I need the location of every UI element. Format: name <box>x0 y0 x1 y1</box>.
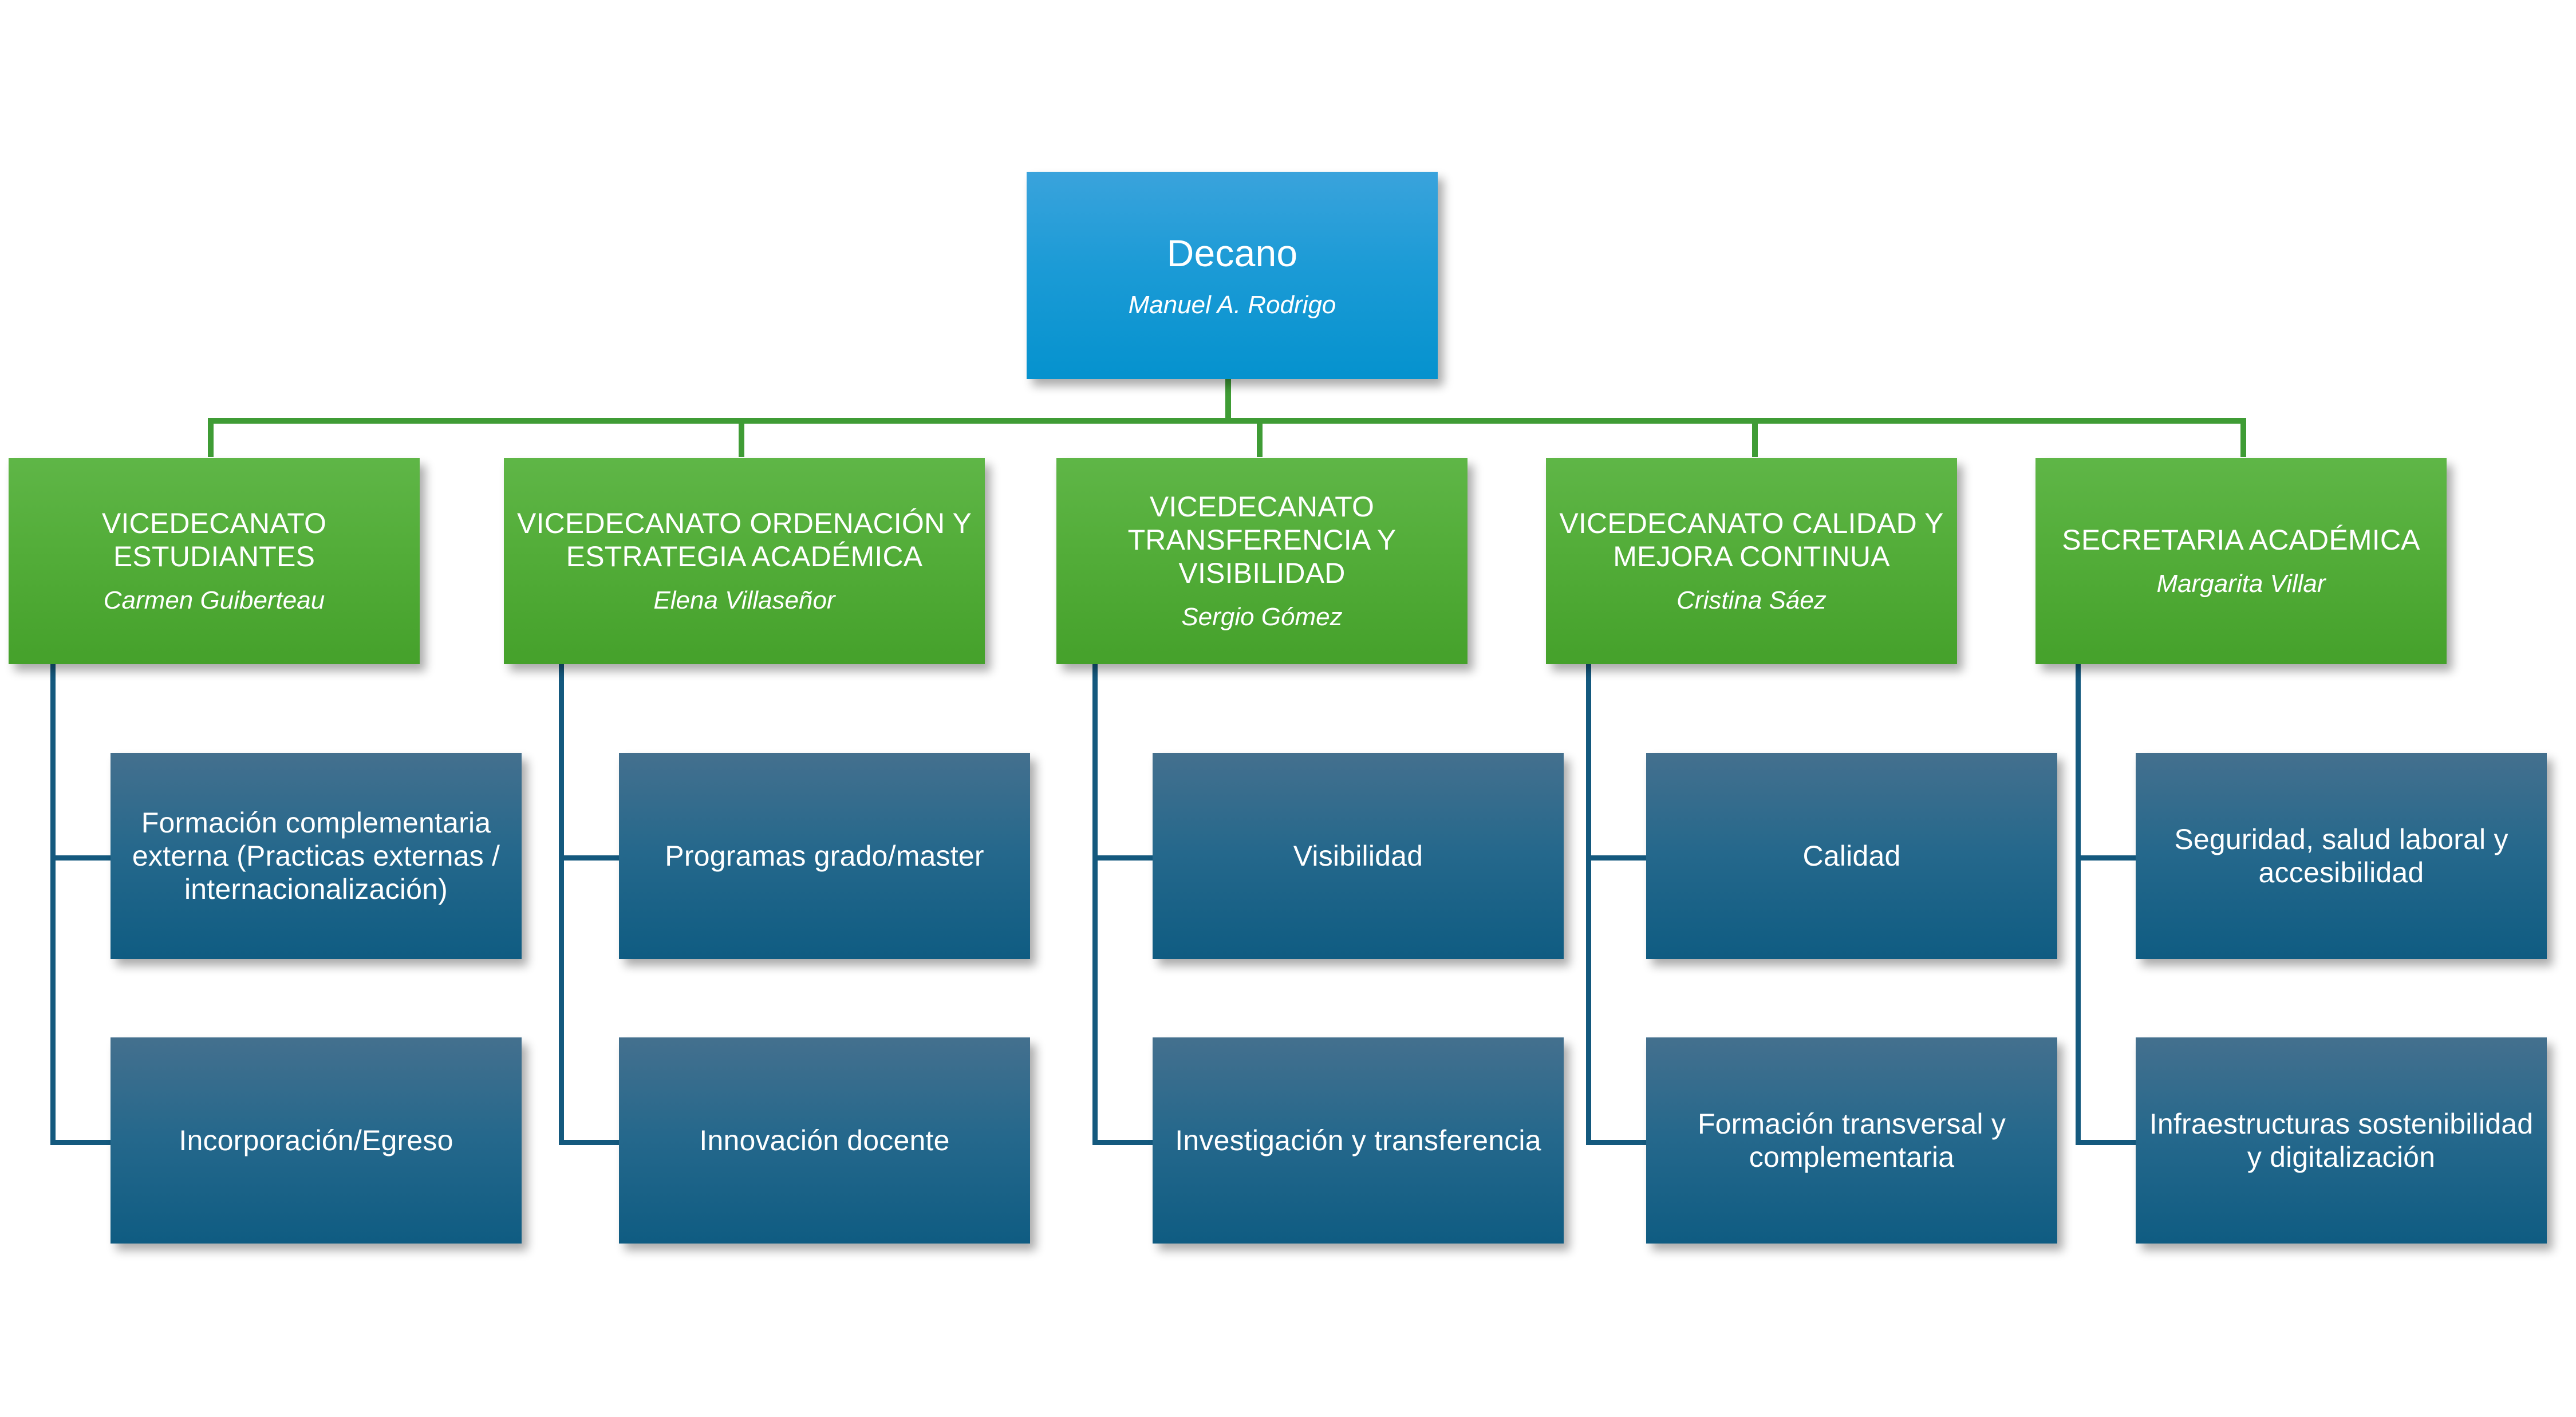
connector-root-bus <box>208 418 2246 424</box>
node-person: Manuel A. Rodrigo <box>1129 290 1336 319</box>
node-title: SECRETARIA ACADÉMICA <box>2062 523 2420 556</box>
connector-branch-drop-3 <box>1257 418 1263 457</box>
node-seguridad-salud-laboral[interactable]: Seguridad, salud laboral y accesibilidad <box>2136 753 2547 959</box>
node-title: Decano <box>1167 231 1298 275</box>
connector-child-stub-5-1 <box>2076 855 2136 861</box>
node-secretaria-academica[interactable]: SECRETARIA ACADÉMICA Margarita Villar <box>2035 458 2447 664</box>
node-vicedecanato-ordenacion[interactable]: VICEDECANATO ORDENACIÓN Y ESTRATEGIA ACA… <box>504 458 985 664</box>
org-chart: Decano Manuel A. Rodrigo VICEDECANATO ES… <box>0 0 2576 1417</box>
connector-child-stub-2-2 <box>559 1140 619 1145</box>
node-title: VICEDECANATO ORDENACIÓN Y ESTRATEGIA ACA… <box>512 507 977 573</box>
connector-child-spine-5 <box>2076 661 2081 1145</box>
connector-child-spine-3 <box>1092 661 1098 1145</box>
node-innovacion-docente[interactable]: Innovación docente <box>619 1037 1030 1244</box>
node-formacion-complementaria-externa[interactable]: Formación complementaria externa (Practi… <box>111 753 522 959</box>
connector-branch-drop-2 <box>739 418 744 457</box>
node-title: Formación complementaria externa (Practi… <box>119 806 514 906</box>
connector-child-stub-3-2 <box>1092 1140 1153 1145</box>
connector-branch-drop-1 <box>208 418 214 457</box>
node-person: Margarita Villar <box>2156 569 2325 598</box>
node-title: Programas grado/master <box>665 839 984 873</box>
node-investigacion-transferencia[interactable]: Investigación y transferencia <box>1153 1037 1564 1244</box>
node-title: VICEDECANATO CALIDAD Y MEJORA CONTINUA <box>1554 507 1949 573</box>
node-person: Cristina Sáez <box>1676 586 1827 615</box>
connector-child-spine-2 <box>559 661 564 1145</box>
connector-child-stub-5-2 <box>2076 1140 2136 1145</box>
node-infraestructuras-sostenibilidad[interactable]: Infraestructuras sostenibilidad y digita… <box>2136 1037 2547 1244</box>
connector-child-spine-4 <box>1586 661 1591 1145</box>
node-calidad[interactable]: Calidad <box>1646 753 2057 959</box>
node-programas-grado-master[interactable]: Programas grado/master <box>619 753 1030 959</box>
node-title: VICEDECANATO ESTUDIANTES <box>17 507 412 573</box>
node-person: Sergio Gómez <box>1181 602 1342 631</box>
connector-child-stub-1-2 <box>50 1140 111 1145</box>
node-vicedecanato-transferencia[interactable]: VICEDECANATO TRANSFERENCIA Y VISIBILIDAD… <box>1056 458 1468 664</box>
connector-child-stub-2-1 <box>559 855 619 861</box>
node-title: VICEDECANATO TRANSFERENCIA Y VISIBILIDAD <box>1064 490 1459 590</box>
node-title: Infraestructuras sostenibilidad y digita… <box>2144 1107 2539 1174</box>
node-vicedecanato-calidad[interactable]: VICEDECANATO CALIDAD Y MEJORA CONTINUA C… <box>1546 458 1957 664</box>
node-title: Formación transversal y complementaria <box>1654 1107 2049 1174</box>
connector-branch-drop-5 <box>2240 418 2246 457</box>
connector-branch-drop-4 <box>1752 418 1758 457</box>
connector-child-stub-4-1 <box>1586 855 1646 861</box>
node-vicedecanato-estudiantes[interactable]: VICEDECANATO ESTUDIANTES Carmen Guiberte… <box>9 458 420 664</box>
connector-child-spine-1 <box>50 661 56 1145</box>
node-formacion-transversal[interactable]: Formación transversal y complementaria <box>1646 1037 2057 1244</box>
connector-child-stub-4-2 <box>1586 1140 1646 1145</box>
node-person: Carmen Guiberteau <box>104 586 325 615</box>
connector-root-stem <box>1225 378 1231 423</box>
node-title: Calidad <box>1803 839 1901 873</box>
connector-child-stub-1-1 <box>50 855 111 861</box>
node-person: Elena Villaseñor <box>653 586 835 615</box>
node-title: Investigación y transferencia <box>1175 1124 1541 1157</box>
node-title: Innovación docente <box>699 1124 949 1157</box>
node-title: Seguridad, salud laboral y accesibilidad <box>2144 823 2539 889</box>
node-decano[interactable]: Decano Manuel A. Rodrigo <box>1027 172 1438 379</box>
node-title: Visibilidad <box>1293 839 1423 873</box>
node-title: Incorporación/Egreso <box>179 1124 453 1157</box>
node-visibilidad[interactable]: Visibilidad <box>1153 753 1564 959</box>
connector-child-stub-3-1 <box>1092 855 1153 861</box>
node-incorporacion-egreso[interactable]: Incorporación/Egreso <box>111 1037 522 1244</box>
